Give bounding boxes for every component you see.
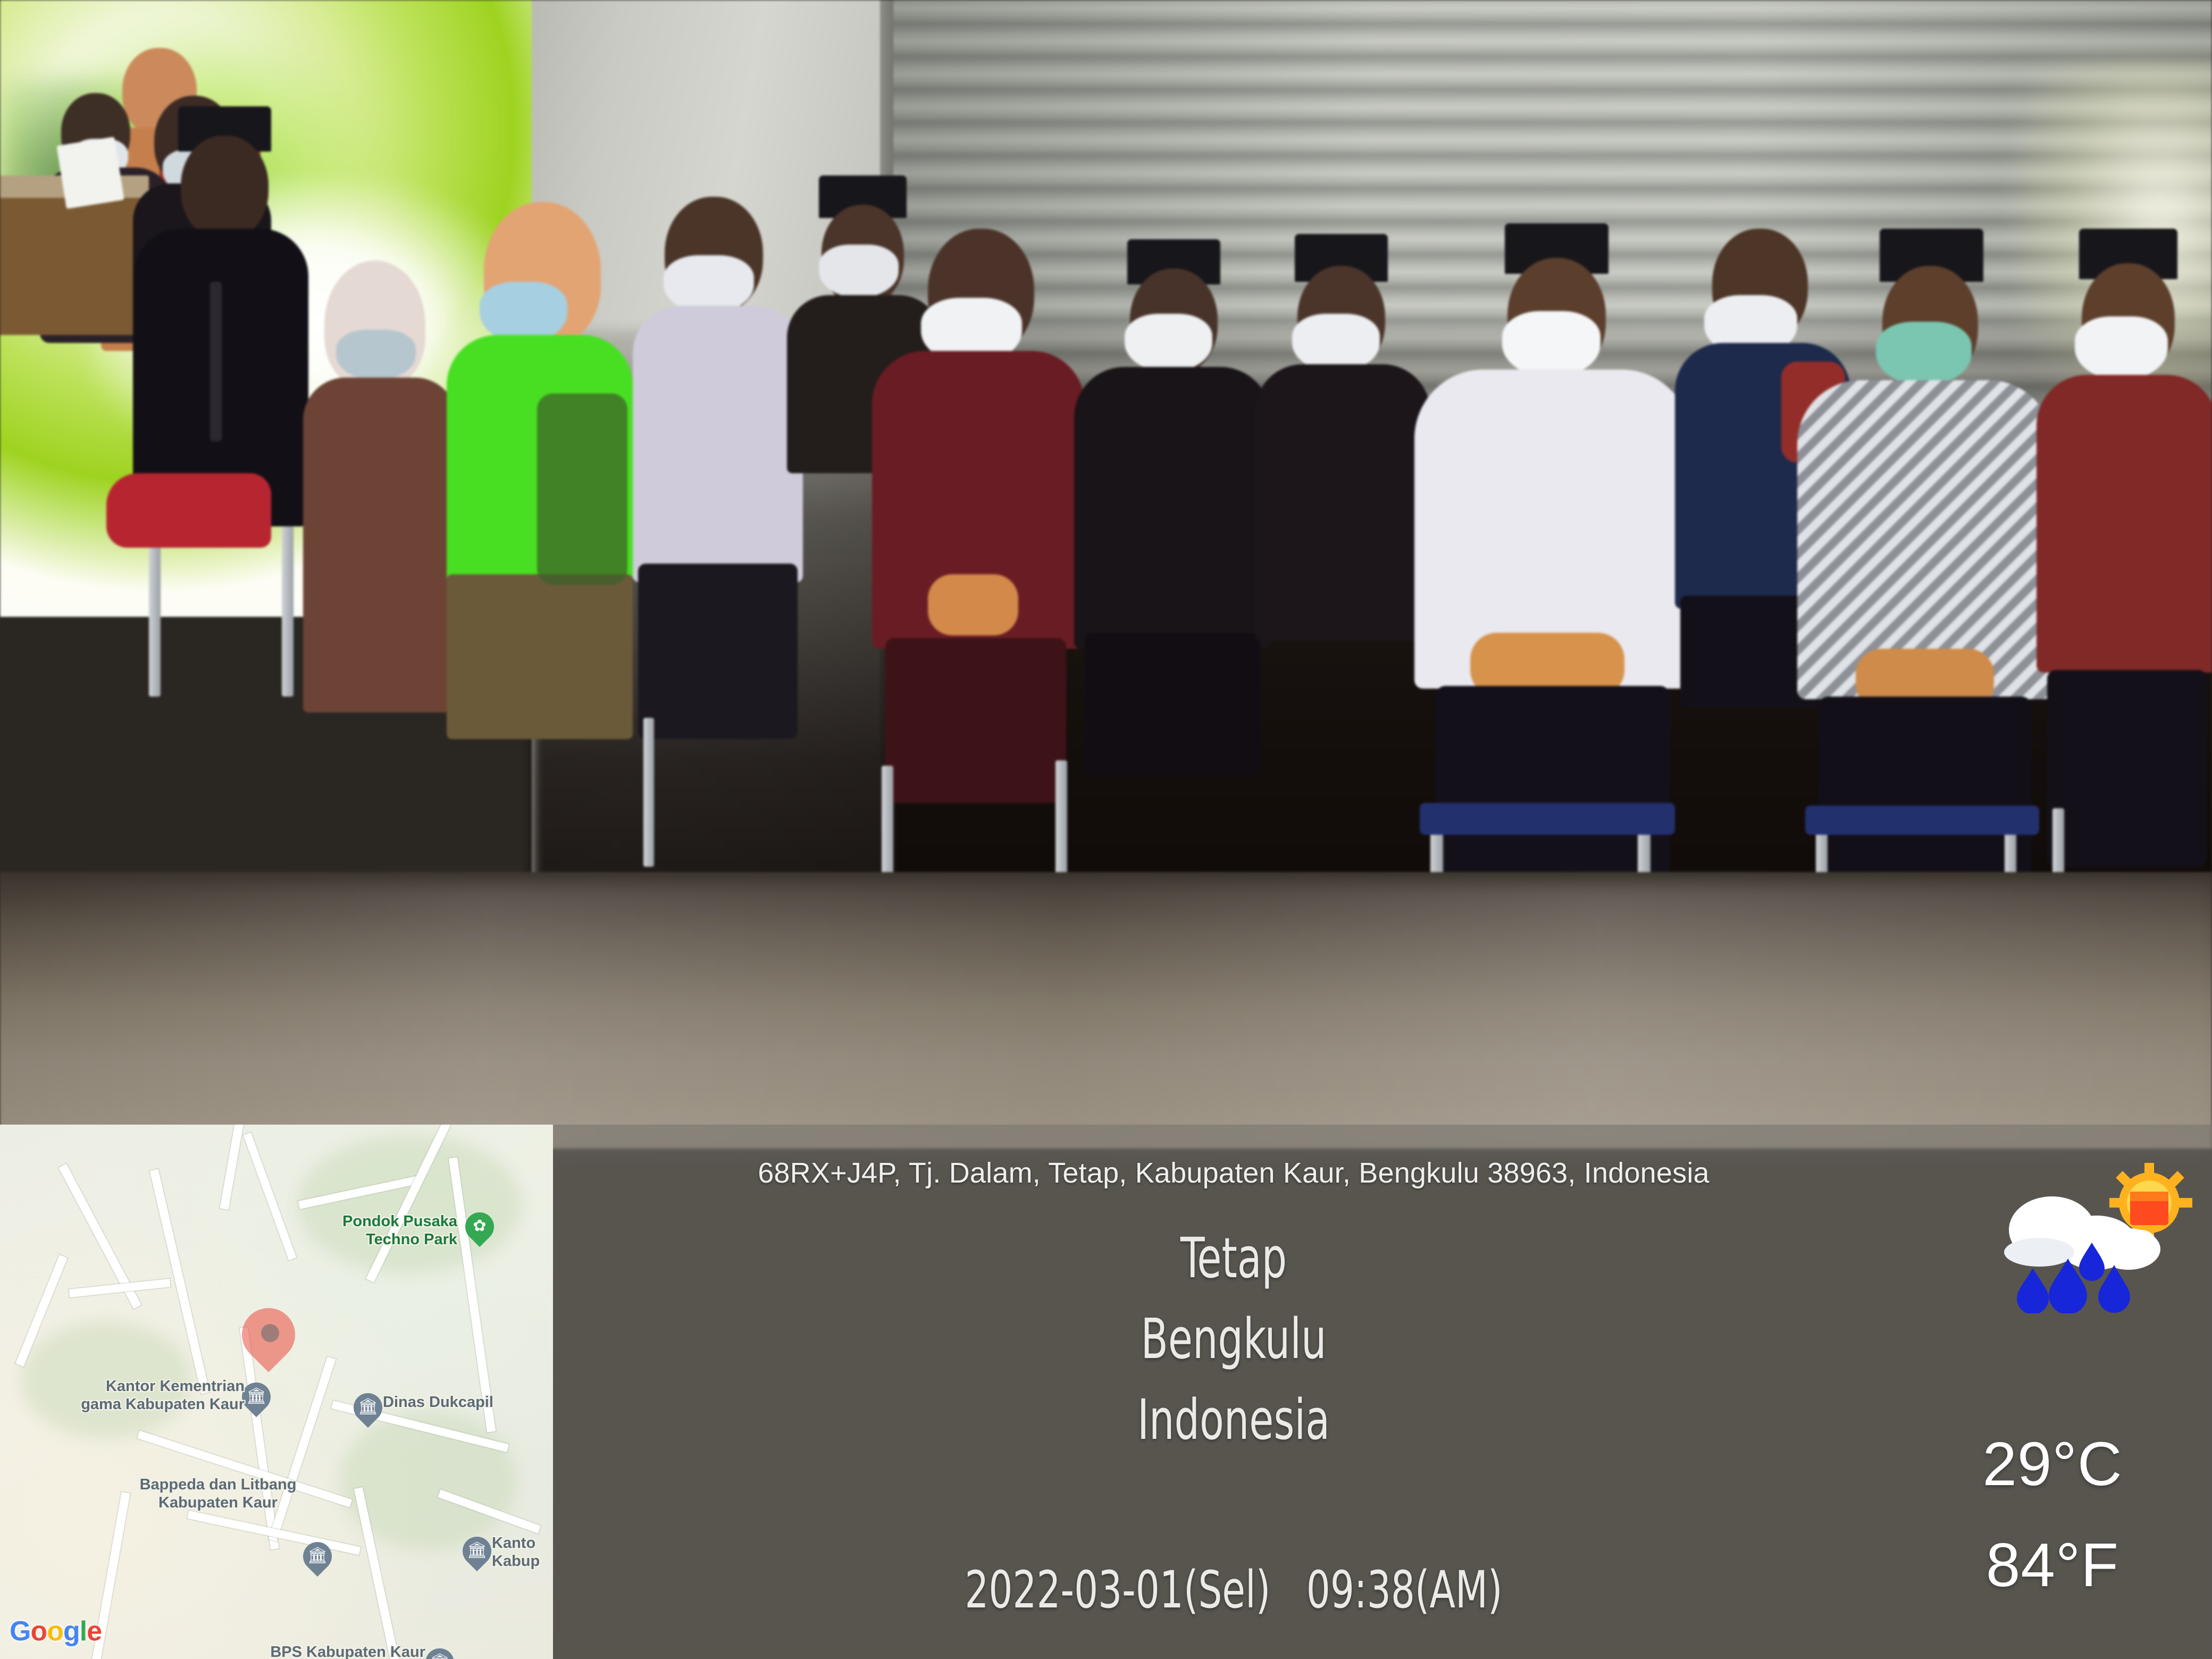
person-seated-lavender-shirt [633, 197, 803, 739]
map-label-dinas-dukcapil: Dinas Dukcapil [383, 1393, 553, 1411]
google-letter-e: e [87, 1616, 102, 1647]
temperature-fahrenheit: 84°F [1893, 1531, 2212, 1598]
pin-bappeda-dan-litbang[interactable]: 🏛 [303, 1542, 332, 1571]
map-thumbnail[interactable]: ✿ 🏛 🏛 🏛 🏛 🏛 Pondok Pusaka Techno Park Ka… [0, 1125, 553, 1659]
government-building-icon: 🏛 [354, 1395, 382, 1419]
current-location-dot [261, 1324, 279, 1342]
person-seated-white-shirt [1414, 223, 1691, 893]
datetime-text: 2022-03-01(Sel) 09:38(AM) [675, 1561, 1791, 1619]
person-seated-hijab-white [298, 261, 457, 713]
map-label-kantor-kabupaten: Kanto Kabup [492, 1534, 553, 1570]
location-line-city: Tetap [689, 1218, 1778, 1298]
temperature-celsius: 29°C [1893, 1430, 2212, 1497]
location-line-province: Bengkulu [689, 1298, 1778, 1379]
map-label-bappeda-litbang: Bappeda dan Litbang Kabupaten Kaur [90, 1476, 346, 1512]
google-letter-g1: G [10, 1616, 30, 1647]
map-label-kantor-kementrian: Kantor Kementrian gama Kabupaten Kaur [0, 1377, 245, 1413]
government-building-icon: 🏛 [242, 1385, 271, 1408]
google-letter-o1: o [30, 1616, 47, 1647]
papers-on-table [61, 141, 120, 205]
floor-reflection [0, 883, 2212, 1149]
map-label-pondok-pusaka: Pondok Pusaka Techno Park [223, 1212, 457, 1249]
google-letter-l: l [80, 1616, 87, 1647]
location-line-country: Indonesia [689, 1379, 1778, 1460]
person-seated-peci-dark-2 [1255, 234, 1430, 755]
flower-icon: ✿ [465, 1214, 494, 1238]
person-seated-black-jacket [133, 106, 308, 638]
map-label-bps-kabupaten-kaur: BPS Kabupaten Kaur [149, 1643, 425, 1659]
person-seated-green-kebaya [447, 202, 633, 739]
person-seated-dark-center [1074, 239, 1271, 776]
pin-kantor-kementrian-agama[interactable]: 🏛 [242, 1382, 271, 1411]
gps-camera-photo-screen: ✿ 🏛 🏛 🏛 🏛 🏛 Pondok Pusaka Techno Park Ka… [0, 0, 2212, 1659]
pin-pondok-pusaka-techno-park[interactable]: ✿ [465, 1212, 494, 1241]
google-attribution-logo[interactable]: Google [10, 1616, 102, 1646]
red-garment-on-lap [106, 473, 271, 548]
pin-bps-kabupaten-kaur[interactable]: 🏛 [425, 1648, 454, 1659]
google-letter-o2: o [47, 1616, 63, 1647]
address-text: 68RX+J4P, Tj. Dalam, Tetap, Kabupaten Ka… [553, 1157, 1914, 1189]
government-building-icon: 🏛 [463, 1539, 491, 1562]
pin-kantor-kabupaten[interactable]: 🏛 [463, 1537, 491, 1565]
google-letter-g2: g [63, 1616, 80, 1647]
government-building-icon: 🏛 [425, 1650, 454, 1659]
government-building-icon: 🏛 [303, 1544, 332, 1568]
sun-behind-rain-cloud-icon [1991, 1159, 2199, 1313]
pin-dinas-dukcapil[interactable]: 🏛 [354, 1393, 382, 1422]
person-seated-maroon-shirt [872, 229, 1085, 803]
person-seated-batik [1797, 229, 2052, 893]
location-lines: Tetap Bengkulu Indonesia [553, 1218, 1914, 1460]
person-seated-red-far-right [2037, 229, 2212, 867]
current-location-pin [242, 1308, 300, 1377]
